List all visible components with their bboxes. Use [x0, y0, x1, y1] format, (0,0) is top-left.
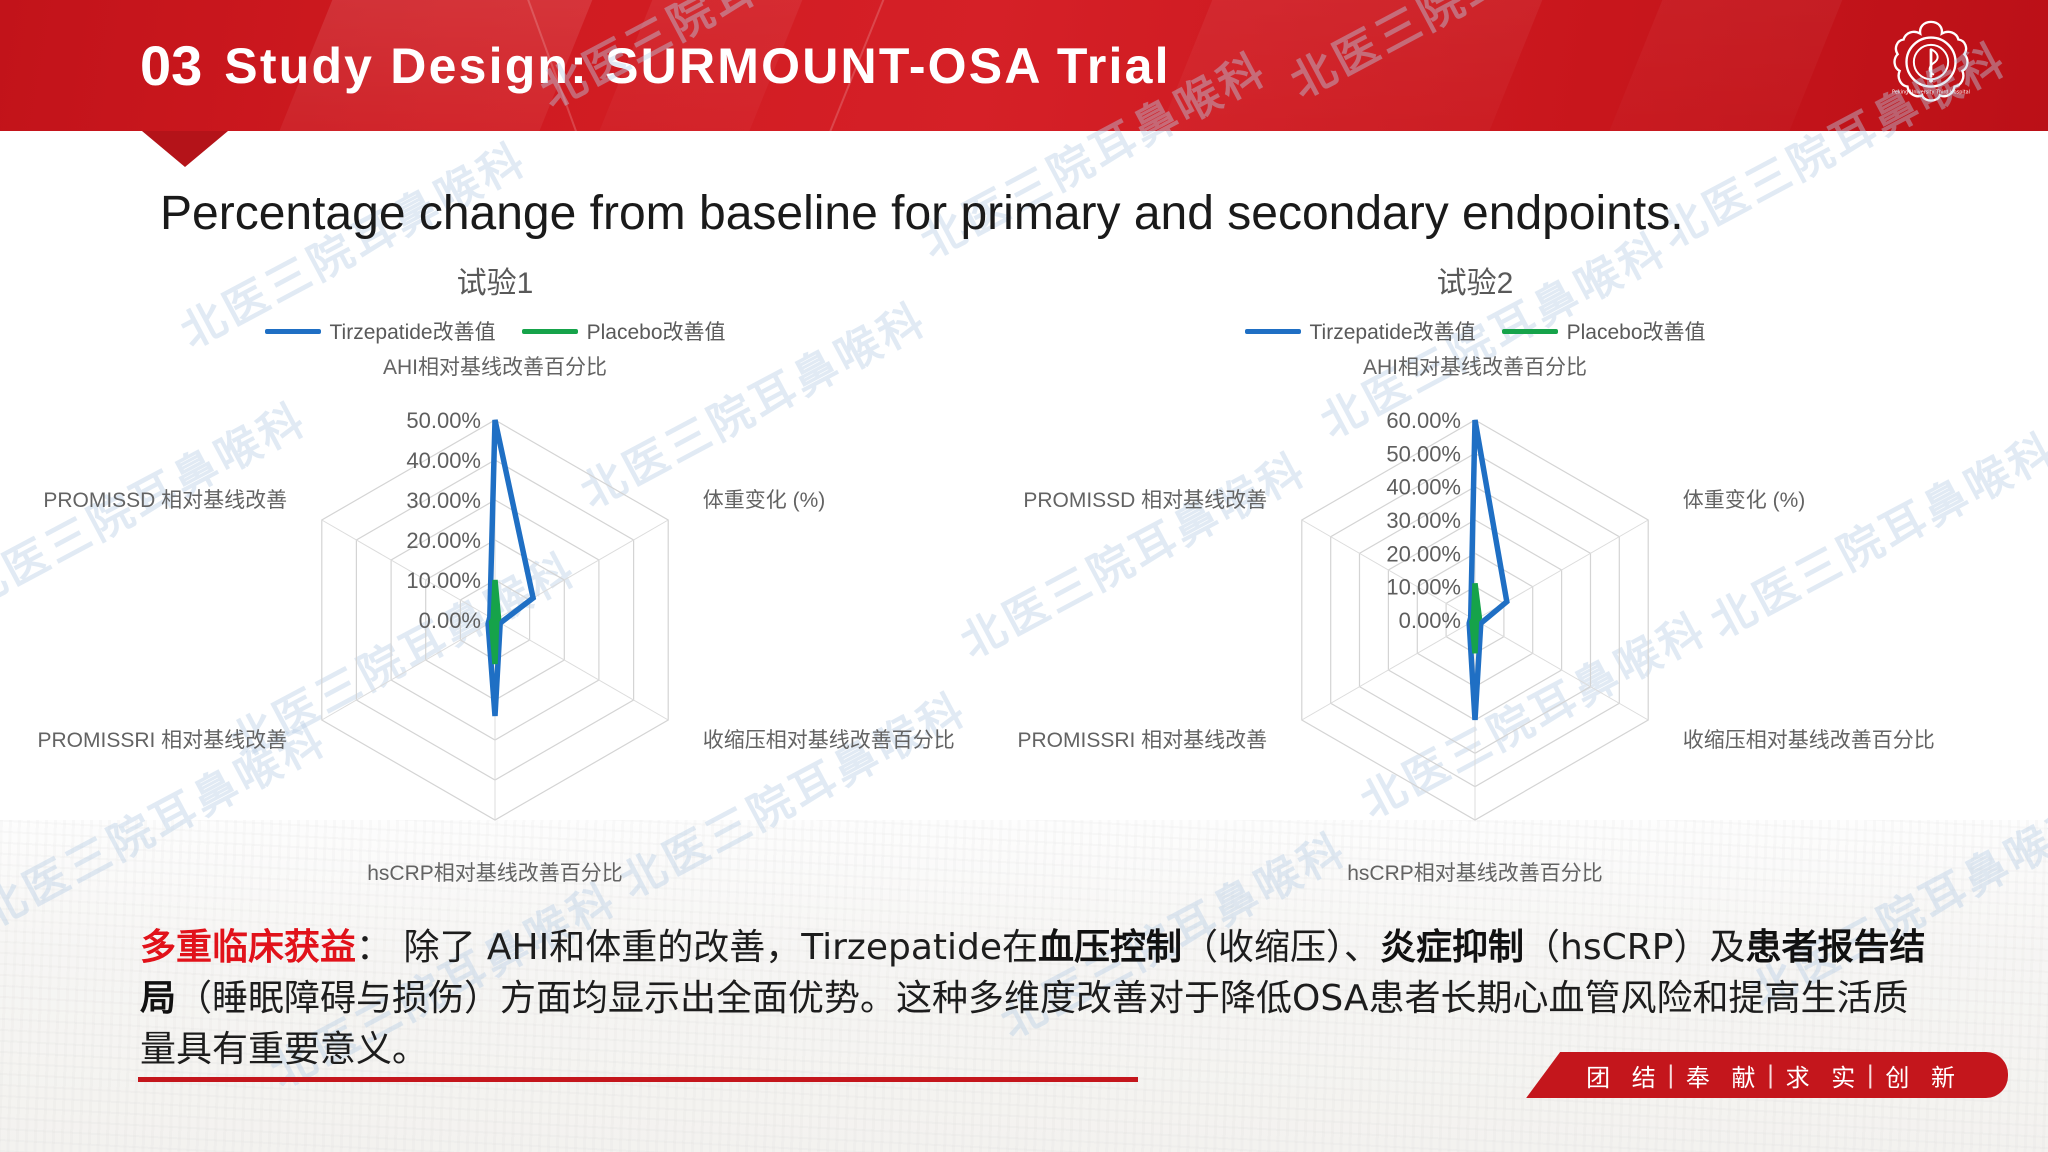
chart-legend: Tirzepatide改善值 Placebo改善值 — [1010, 316, 1940, 346]
section-number: 03 — [140, 38, 202, 94]
motto-item-3: 求 实 — [1786, 1058, 1863, 1093]
svg-text:hsCRP相对基线改善百分比: hsCRP相对基线改善百分比 — [1347, 862, 1603, 885]
hospital-seal-icon: Peking University Third Hospital — [1882, 16, 1980, 114]
chart-legend: Tirzepatide改善值 Placebo改善值 — [30, 316, 960, 346]
conclusion-part-1: 除了 AHI和体重的改善，Tirzepatide在 — [392, 927, 1038, 968]
svg-text:PROMISSRI 相对基线改善: PROMISSRI 相对基线改善 — [38, 729, 288, 752]
svg-text:AHI相对基线改善百分比: AHI相对基线改善百分比 — [383, 356, 607, 379]
conclusion-part-2: （收缩压）、 — [1182, 927, 1380, 968]
svg-text:60.00%: 60.00% — [1386, 408, 1461, 433]
radar-plot-area: 0.00%10.00%20.00%30.00%40.00%50.00%60.00… — [1010, 350, 1940, 910]
radar-chart-trial-1: 试验1 Tirzepatide改善值 Placebo改善值 0.00%10.00… — [30, 258, 960, 908]
motto-separator: | — [1866, 1061, 1881, 1089]
motto-separator: | — [1667, 1061, 1682, 1089]
svg-text:PROMISSD 相对基线改善: PROMISSD 相对基线改善 — [43, 489, 287, 512]
svg-text:体重变化 (%): 体重变化 (%) — [703, 489, 826, 512]
header-sheen — [1132, 0, 1559, 131]
legend-swatch-icon — [1245, 329, 1301, 334]
legend-item-placebo: Placebo改善值 — [522, 316, 726, 346]
legend-item-tirzepatide: Tirzepatide改善值 — [1245, 316, 1476, 346]
footer-rule — [138, 1077, 1138, 1082]
legend-swatch-icon — [522, 329, 578, 334]
svg-text:0.00%: 0.00% — [419, 608, 481, 633]
motto-separator: | — [1767, 1061, 1782, 1089]
slide-subtitle: Percentage change from baseline for prim… — [160, 186, 1920, 241]
svg-text:0.00%: 0.00% — [1399, 608, 1461, 633]
slide-header: 03 Study Design: SURMOUNT-OSA Trial Peki… — [0, 0, 2048, 131]
chart-title: 试验1 — [30, 258, 960, 302]
header-sheen — [1582, 0, 1859, 131]
legend-label: Placebo改善值 — [1567, 316, 1706, 346]
svg-text:50.00%: 50.00% — [1386, 441, 1461, 466]
conclusion-colon: ： — [356, 927, 392, 968]
slide-root: 03 Study Design: SURMOUNT-OSA Trial Peki… — [0, 0, 2048, 1152]
svg-text:10.00%: 10.00% — [406, 568, 481, 593]
svg-text:Peking University Third Hospit: Peking University Third Hospital — [1892, 89, 1970, 95]
legend-item-placebo: Placebo改善值 — [1502, 316, 1706, 346]
motto-item-4: 创 新 — [1885, 1058, 1962, 1093]
svg-text:40.00%: 40.00% — [1386, 475, 1461, 500]
page-title: 03 Study Design: SURMOUNT-OSA Trial — [140, 30, 1171, 102]
legend-label: Placebo改善值 — [587, 316, 726, 346]
svg-text:10.00%: 10.00% — [1386, 575, 1461, 600]
svg-text:20.00%: 20.00% — [1386, 541, 1461, 566]
conclusion-bold-1: 血压控制 — [1038, 927, 1182, 968]
svg-text:40.00%: 40.00% — [406, 448, 481, 473]
radar-plot-area: 0.00%10.00%20.00%30.00%40.00%50.00% AHI相… — [30, 350, 960, 910]
motto-item-2: 奉 献 — [1686, 1058, 1763, 1093]
svg-text:30.00%: 30.00% — [406, 488, 481, 513]
svg-text:AHI相对基线改善百分比: AHI相对基线改善百分比 — [1363, 356, 1587, 379]
svg-text:收缩压相对基线改善百分比: 收缩压相对基线改善百分比 — [703, 729, 955, 752]
footer-motto-banner: 团 结 | 奉 献 | 求 实 | 创 新 — [1526, 1052, 2008, 1098]
legend-label: Tirzepatide改善值 — [1310, 316, 1476, 346]
svg-text:50.00%: 50.00% — [406, 408, 481, 433]
svg-text:体重变化 (%): 体重变化 (%) — [1683, 489, 1806, 512]
radar-chart-trial-2: 试验2 Tirzepatide改善值 Placebo改善值 0.00%10.00… — [1010, 258, 1940, 908]
legend-swatch-icon — [1502, 329, 1558, 334]
svg-text:PROMISSD 相对基线改善: PROMISSD 相对基线改善 — [1023, 489, 1267, 512]
svg-text:hsCRP相对基线改善百分比: hsCRP相对基线改善百分比 — [367, 862, 623, 885]
legend-item-tirzepatide: Tirzepatide改善值 — [265, 316, 496, 346]
motto-item-1: 团 结 — [1586, 1058, 1663, 1093]
header-notch — [142, 131, 228, 167]
svg-text:20.00%: 20.00% — [406, 528, 481, 553]
chart-title: 试验2 — [1010, 258, 1940, 302]
conclusion-bold-2: 炎症抑制 — [1380, 927, 1524, 968]
conclusion-part-3: （hsCRP）及 — [1524, 927, 1745, 968]
radar-tick-labels: 0.00%10.00%20.00%30.00%40.00%50.00% — [406, 408, 481, 633]
conclusion-lead: 多重临床获益 — [140, 927, 356, 968]
radar-tick-labels: 0.00%10.00%20.00%30.00%40.00%50.00%60.00… — [1386, 408, 1461, 633]
svg-text:收缩压相对基线改善百分比: 收缩压相对基线改善百分比 — [1683, 729, 1935, 752]
legend-swatch-icon — [265, 329, 321, 334]
legend-label: Tirzepatide改善值 — [330, 316, 496, 346]
svg-text:30.00%: 30.00% — [1386, 508, 1461, 533]
section-title: Study Design: SURMOUNT-OSA Trial — [224, 41, 1170, 91]
svg-text:PROMISSRI 相对基线改善: PROMISSRI 相对基线改善 — [1018, 729, 1268, 752]
